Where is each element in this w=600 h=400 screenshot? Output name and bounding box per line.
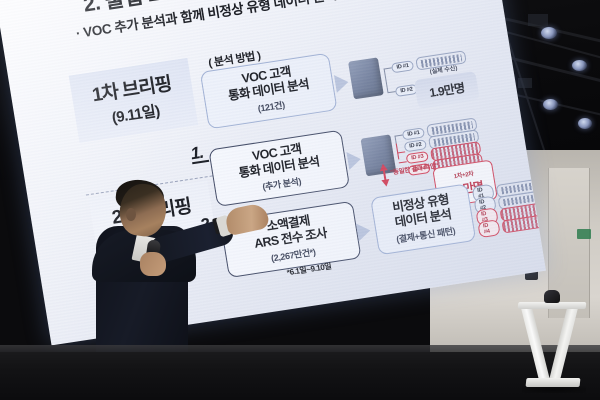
- arrow-right-icon: [334, 73, 350, 93]
- stage-light-icon: [578, 118, 592, 129]
- lectern-microphone: [544, 290, 560, 303]
- floor: [0, 352, 600, 400]
- result-1-value: 1.9만명: [415, 77, 479, 103]
- pointing-hand: [224, 202, 270, 236]
- briefing-box-1: 1차 브리핑 (9.11일): [69, 58, 199, 143]
- id-tag: ID #4: [477, 219, 500, 238]
- presenter-ear: [126, 208, 136, 221]
- stage-light-icon: [543, 99, 558, 110]
- lectern-base: [526, 378, 581, 387]
- analysis-box-abnormal: 비정상 유형 데이터 분석 (결제+통신 패턴): [370, 183, 476, 254]
- data-cube-icon: [348, 57, 384, 99]
- lectern: [518, 296, 590, 396]
- screenshot-root: 2. 불법 초소형 기지국(ID : 장비 관리번호) 확인 현황 · VOC …: [0, 0, 600, 400]
- exit-sign-icon: [577, 229, 591, 239]
- lectern-leg-left: [521, 308, 550, 380]
- arrow-right-icon: [346, 150, 362, 170]
- stage-light-icon: [541, 27, 557, 39]
- lectern-top: [518, 302, 587, 309]
- id-tag: ID #1: [391, 60, 415, 73]
- lectern-leg-right: [549, 308, 578, 380]
- arrow-right-icon: [356, 222, 372, 242]
- mic-holding-hand: [140, 252, 166, 276]
- stage-light-icon: [572, 60, 587, 71]
